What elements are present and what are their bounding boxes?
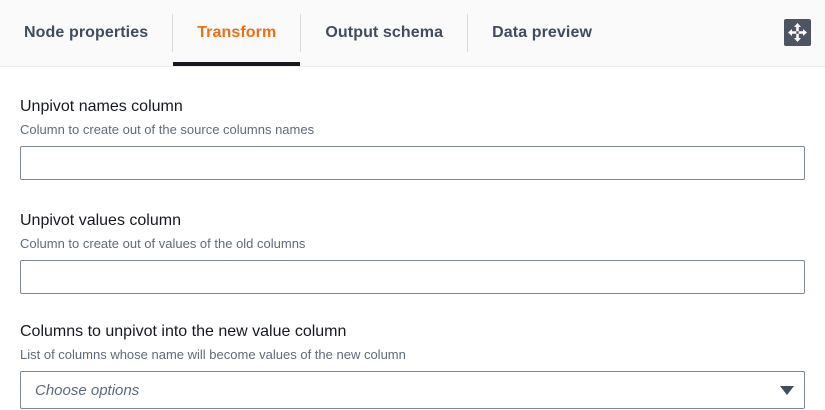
tab-data-preview-label: Data preview bbox=[492, 24, 592, 42]
field-description: Column to create out of values of the ol… bbox=[20, 235, 805, 252]
tab-node-properties[interactable]: Node properties bbox=[0, 0, 172, 66]
tab-output-schema[interactable]: Output schema bbox=[301, 0, 467, 66]
tab-node-properties-label: Node properties bbox=[24, 24, 148, 42]
multiselect-placeholder: Choose options bbox=[21, 382, 770, 399]
field-unpivot-names-column: Unpivot names column Column to create ou… bbox=[0, 97, 825, 180]
tab-list: Node properties Transform Output schema … bbox=[0, 0, 616, 66]
tab-output-schema-label: Output schema bbox=[325, 24, 443, 42]
unpivot-names-column-input[interactable] bbox=[20, 146, 805, 180]
tab-transform[interactable]: Transform bbox=[173, 0, 300, 66]
tab-bar: Node properties Transform Output schema … bbox=[0, 0, 825, 67]
field-description: Column to create out of the source colum… bbox=[20, 121, 805, 138]
columns-to-unpivot-multiselect[interactable]: Choose options bbox=[20, 371, 805, 409]
unpivot-values-column-input[interactable] bbox=[20, 260, 805, 294]
field-description: List of columns whose name will become v… bbox=[20, 346, 805, 363]
tab-transform-label: Transform bbox=[197, 24, 276, 42]
field-columns-to-unpivot: Columns to unpivot into the new value co… bbox=[0, 322, 825, 409]
field-label: Unpivot names column bbox=[20, 97, 805, 117]
expand-arrows-icon[interactable] bbox=[783, 18, 812, 47]
field-label: Unpivot values column bbox=[20, 211, 805, 231]
transform-form: Unpivot names column Column to create ou… bbox=[0, 67, 825, 409]
chevron-down-icon[interactable] bbox=[770, 372, 804, 408]
field-control bbox=[20, 146, 805, 180]
field-label: Columns to unpivot into the new value co… bbox=[20, 322, 805, 342]
field-control: Choose options bbox=[20, 371, 805, 409]
field-control bbox=[20, 260, 805, 294]
tab-data-preview[interactable]: Data preview bbox=[468, 0, 616, 66]
field-unpivot-values-column: Unpivot values column Column to create o… bbox=[0, 211, 825, 294]
